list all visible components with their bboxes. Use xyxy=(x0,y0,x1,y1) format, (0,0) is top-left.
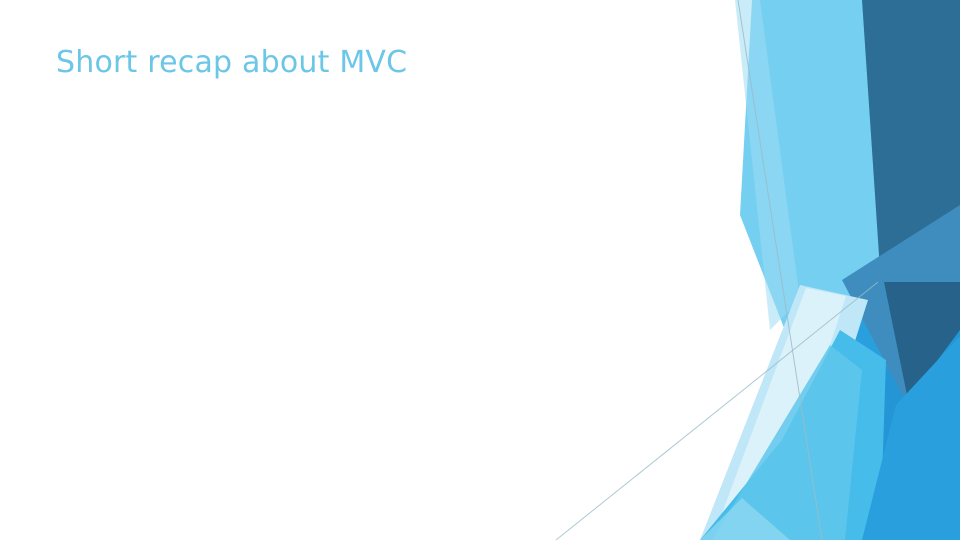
decor-shape-pale-inner xyxy=(712,288,846,540)
decor-shape-bright-right-column xyxy=(862,336,960,540)
decor-shape-steel-triangle-mid xyxy=(842,205,960,400)
decor-shape-light-overlay-lower xyxy=(712,345,862,540)
body-content-placeholder[interactable] xyxy=(56,110,676,490)
decor-shape-steel-right xyxy=(820,0,960,420)
decor-shape-mid-blue-lower-right xyxy=(800,300,960,540)
decor-shape-soft-bottom-left xyxy=(700,498,790,540)
decor-shape-navy-wedge xyxy=(848,0,960,400)
decor-shape-mid-lower-left xyxy=(700,330,886,540)
title-placeholder[interactable]: Short recap about MVC xyxy=(56,44,656,82)
decor-shape-pale-v xyxy=(700,285,868,540)
page-title: Short recap about MVC xyxy=(56,44,656,82)
decor-shape-bright-corner xyxy=(855,330,960,540)
decor-shape-sky-band xyxy=(740,0,884,420)
slide-canvas: Short recap about MVC xyxy=(0,0,960,540)
decor-shape-navy-spike xyxy=(884,282,960,400)
decor-shape-pale-sliver-top xyxy=(735,0,800,330)
decor-hairline-vertical xyxy=(738,0,822,540)
